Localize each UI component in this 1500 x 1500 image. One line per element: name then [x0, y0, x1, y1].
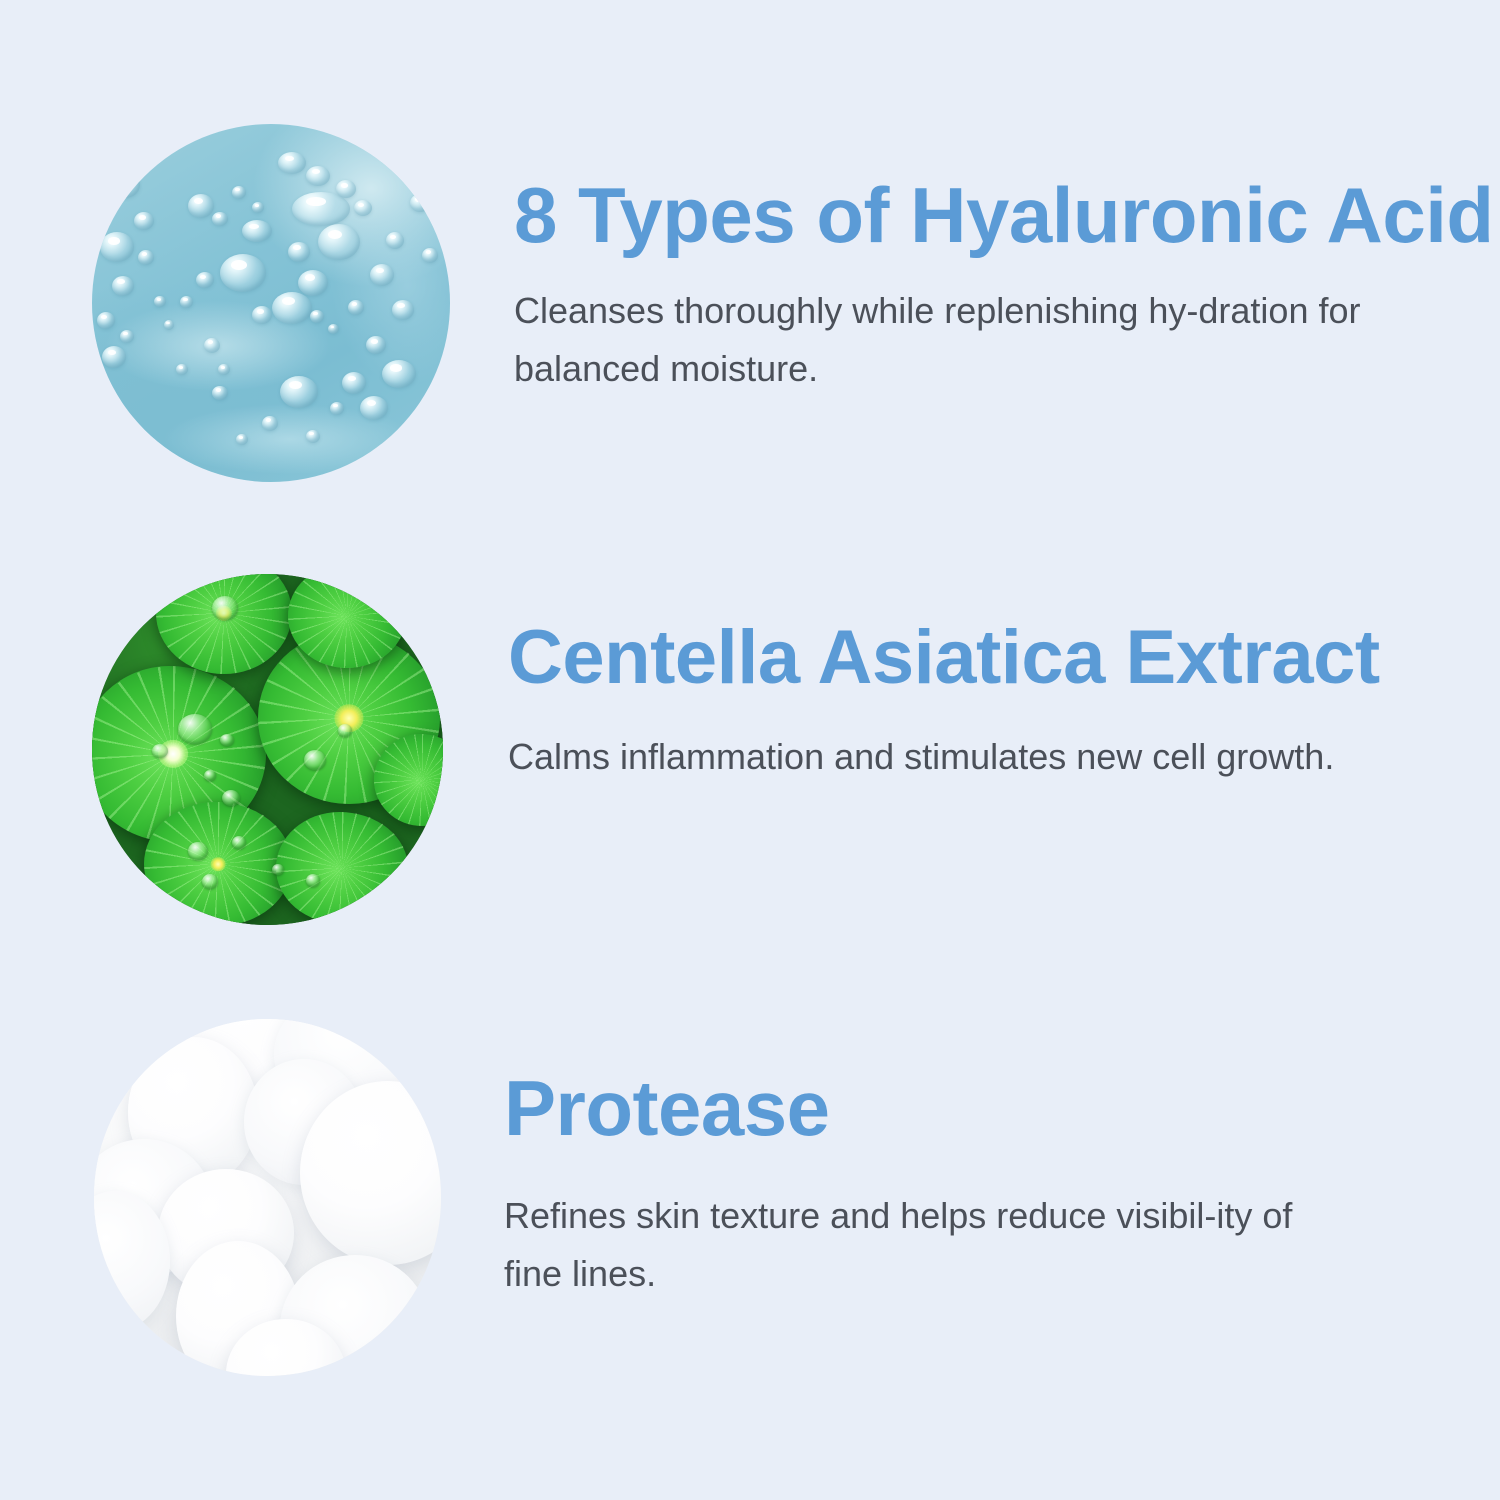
ingredient-row-protease: Protease Refines skin texture and helps …	[94, 1019, 1464, 1376]
ingredient-row-hyaluronic-acid: 8 Types of Hyaluronic Acid Cleanses thor…	[92, 124, 1474, 482]
ingredient-row-centella-asiatica: Centella Asiatica Extract Calms inflamma…	[92, 574, 1468, 925]
blue-hyaluronic-gel-bubbles-photo	[92, 124, 450, 482]
ingredient-description: Refines skin texture and helps reduce vi…	[504, 1187, 1354, 1304]
ingredients-infographic: 8 Types of Hyaluronic Acid Cleanses thor…	[0, 0, 1500, 1500]
ingredient-text-block: 8 Types of Hyaluronic Acid Cleanses thor…	[514, 124, 1474, 399]
ingredient-text-block: Centella Asiatica Extract Calms inflamma…	[508, 574, 1468, 786]
ingredient-title: 8 Types of Hyaluronic Acid	[514, 176, 1474, 254]
ingredient-title: Protease	[504, 1069, 1464, 1147]
ingredient-title: Centella Asiatica Extract	[508, 620, 1468, 696]
green-centella-leaves-photo	[92, 574, 443, 925]
white-cream-texture-photo	[94, 1019, 441, 1376]
ingredient-description: Cleanses thoroughly while replenishing h…	[514, 282, 1364, 399]
ingredient-text-block: Protease Refines skin texture and helps …	[504, 1019, 1464, 1304]
ingredient-description: Calms inflammation and stimulates new ce…	[508, 728, 1358, 786]
